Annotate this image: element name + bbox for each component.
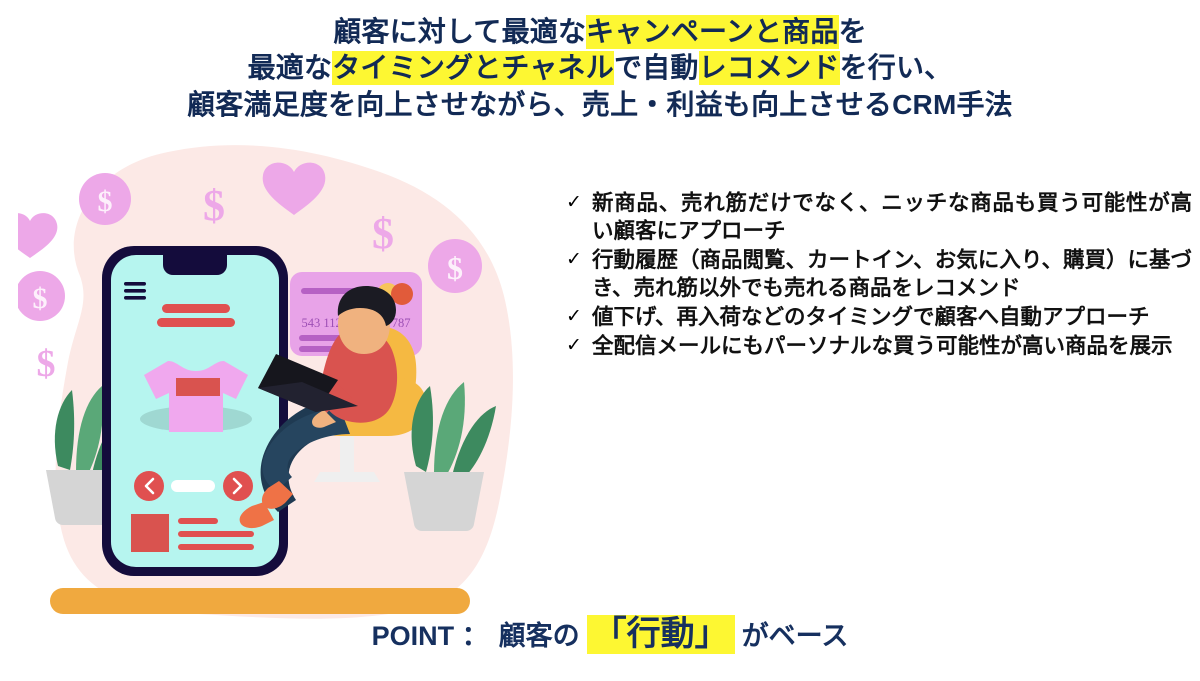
- floor-bar: [50, 588, 470, 614]
- title-line-1: 顧客に対して最適なキャンペーンと商品を: [0, 14, 1200, 50]
- slide-root: 顧客に対して最適なキャンペーンと商品を最適なタイミングとチャネルで自動レコメンド…: [0, 0, 1200, 681]
- carousel-next-button: [223, 471, 253, 501]
- svg-text:$: $: [447, 250, 463, 286]
- check-icon: ✓: [566, 304, 592, 329]
- check-icon: ✓: [566, 190, 592, 215]
- bullet-text: 新商品、売れ筋だけでなく、ニッチな商品も買う可能性が高い顧客にアプローチ: [592, 190, 1192, 246]
- title-segment-highlighted: レコメンド: [699, 51, 840, 85]
- check-icon: ✓: [566, 333, 592, 358]
- slide-title: 顧客に対して最適なキャンペーンと商品を最適なタイミングとチャネルで自動レコメンド…: [0, 14, 1200, 123]
- title-segment: を行い、: [840, 52, 953, 83]
- bullet-item: ✓全配信メールにもパーソナルな買う可能性が高い商品を展示: [566, 333, 1192, 361]
- title-segment-highlighted: タイミングとチャネル: [332, 51, 614, 85]
- carousel-prev-button: [134, 471, 164, 501]
- point-suffix: がベース: [742, 614, 849, 653]
- title-segment: で自動: [614, 52, 699, 83]
- bullet-text: 全配信メールにもパーソナルな買う可能性が高い商品を展示: [592, 333, 1192, 361]
- svg-text:$: $: [372, 209, 394, 258]
- hamburger-menu-icon: [124, 282, 146, 300]
- bullet-item: ✓新商品、売れ筋だけでなく、ニッチな商品も買う可能性が高い顧客にアプローチ: [566, 190, 1192, 246]
- svg-text:$: $: [37, 343, 56, 385]
- title-segment: 顧客満足度を向上させながら、売上・利益も向上させるCRM手法: [187, 89, 1013, 120]
- title-line-2: 最適なタイミングとチャネルで自動レコメンドを行い、: [0, 50, 1200, 86]
- bullet-item: ✓値下げ、再入荷などのタイミングで顧客へ自動アプローチ: [566, 304, 1192, 332]
- point-middle: 顧客の: [499, 614, 580, 653]
- title-segment-highlighted: キャンペーンと商品: [586, 15, 838, 49]
- bullet-item: ✓行動履歴（商品閲覧、カートイン、お気に入り、購買）に基づき、売れ筋以外でも売れ…: [566, 247, 1192, 303]
- svg-text:$: $: [98, 185, 113, 218]
- svg-text:$: $: [203, 181, 225, 230]
- feature-bullet-list: ✓新商品、売れ筋だけでなく、ニッチな商品も買う可能性が高い顧客にアプローチ✓行動…: [566, 190, 1192, 362]
- bullet-text: 値下げ、再入荷などのタイミングで顧客へ自動アプローチ: [592, 304, 1192, 332]
- hero-illustration: $ $ $ $ $ $ $: [18, 136, 538, 636]
- point-prefix: POINT ：: [372, 614, 489, 653]
- point-summary: POINT ： 顧客の 「行動」 がベース: [260, 614, 960, 654]
- title-segment: 最適な: [248, 52, 333, 83]
- check-icon: ✓: [566, 247, 592, 272]
- svg-text:$: $: [33, 282, 48, 315]
- title-segment: 顧客に対して最適な: [333, 16, 586, 47]
- point-emphasis: 「行動」: [587, 615, 735, 654]
- bullet-text: 行動履歴（商品閲覧、カートイン、お気に入り、購買）に基づき、売れ筋以外でも売れる…: [592, 247, 1192, 303]
- title-line-3: 顧客満足度を向上させながら、売上・利益も向上させるCRM手法: [0, 87, 1200, 123]
- title-segment: を: [839, 16, 867, 47]
